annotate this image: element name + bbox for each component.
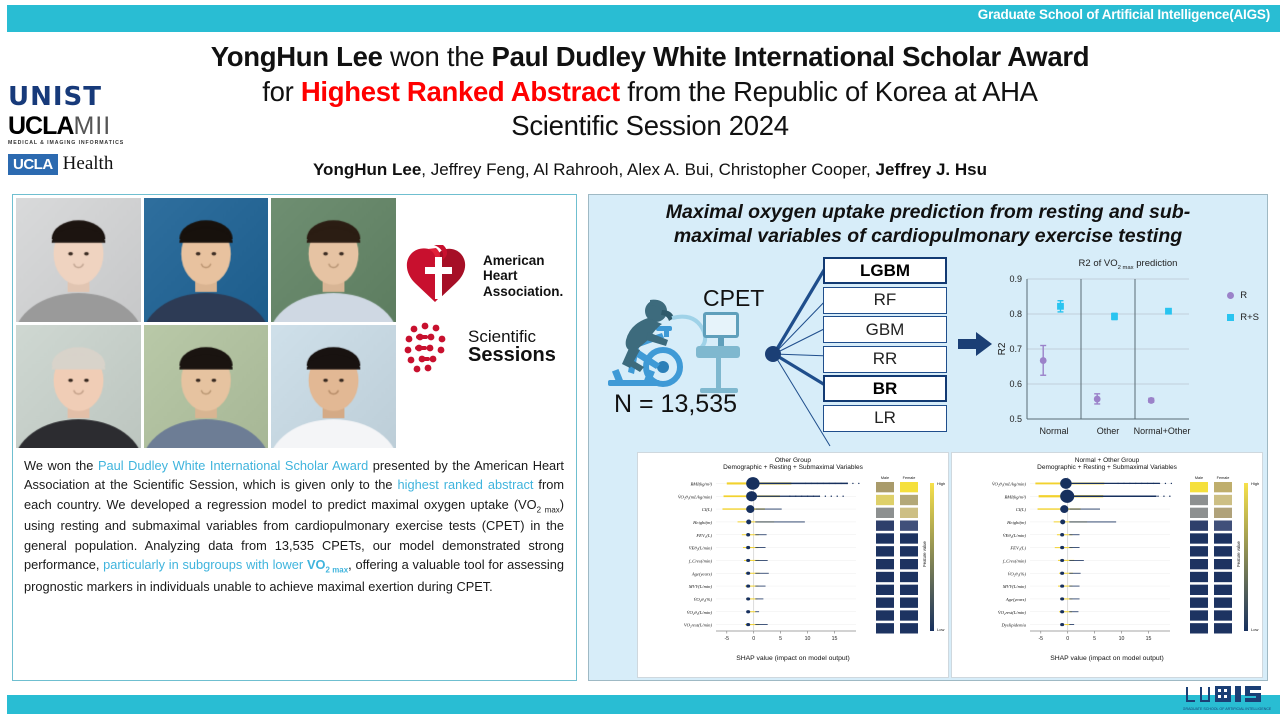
model-item-lgbm[interactable]: LGBM (823, 257, 947, 284)
svg-text:High: High (1251, 481, 1259, 486)
ucla-mii-mii: MII (73, 112, 111, 140)
shap-right-subtitle: Demographic + Resting + Submaximal Varia… (952, 464, 1262, 471)
svg-text:Age(years): Age(years) (691, 571, 713, 576)
aha-line-1: American (483, 253, 563, 268)
shap-left-subtitle: Demographic + Resting + Submaximal Varia… (638, 464, 948, 471)
aha-wordmark: American Heart Association. (483, 253, 563, 298)
ucla-mii-ucla: UCLA (8, 112, 73, 140)
svg-text:-5: -5 (1038, 636, 1043, 642)
abstract-rank-highlight: highest ranked abstract (398, 477, 534, 492)
r2-title-sub: 2 max (1118, 265, 1134, 271)
aha-line-2: Heart (483, 268, 563, 283)
svg-text:V̇O₂rest(L/min): V̇O₂rest(L/min) (998, 610, 1027, 615)
headshot-4 (16, 325, 141, 449)
svg-text:Low: Low (1251, 627, 1258, 632)
aha-heart-torch-icon (404, 245, 476, 307)
svg-text:0: 0 (752, 636, 755, 642)
title-award-name: Paul Dudley White International Scholar … (492, 41, 1090, 72)
model-item-gbm[interactable]: GBM (823, 316, 947, 343)
headshot-2 (144, 198, 269, 322)
svg-text:0.8: 0.8 (1009, 309, 1022, 319)
svg-text:GRADUATE SCHOOL OF ARTIFICIAL: GRADUATE SCHOOL OF ARTIFICIAL INTELLIGEN… (1183, 707, 1271, 711)
legend-marker-r (1227, 292, 1234, 299)
unist-aigs-logo: GRADUATE SCHOOL OF ARTIFICIAL INTELLIGEN… (1183, 681, 1271, 713)
svg-text:BMI(kg/m²): BMI(kg/m²) (1004, 494, 1026, 499)
page-title: YongHun Lee won the Paul Dudley White In… (120, 40, 1180, 144)
svg-text:0: 0 (1066, 636, 1069, 642)
legend-item-rs: R+S (1227, 312, 1259, 323)
legend-label-rs: R+S (1240, 312, 1259, 323)
svg-text:V̇O₂θ₁(mL/kg/min): V̇O₂θ₁(mL/kg/min) (992, 481, 1027, 486)
svg-text:0.5: 0.5 (1009, 414, 1022, 424)
abstract-subgroup-highlight: particularly in subgroups with lower (103, 557, 307, 572)
svg-text:R2: R2 (997, 342, 1008, 355)
legend-label-r: R (1240, 290, 1247, 301)
r2-chart-plot: 0.50.60.70.80.9R2NormalOtherNormal+Other (993, 271, 1198, 449)
svg-text:-5: -5 (724, 636, 729, 642)
title-country: from the Republic of Korea at AHA (620, 76, 1038, 107)
shap-right-canvas: -5051015V̇O₂θ₁(mL/kg/min)BMI(kg/m²)CI(L)… (952, 471, 1262, 657)
svg-text:V̇O₂θ₁(%): V̇O₂θ₁(%) (694, 597, 713, 602)
r2-chart: R2 of VO2 max prediction 0.50.60.70.80.9… (993, 258, 1263, 454)
cpet-cyclist-icon (600, 288, 770, 408)
institution-logos: UNIST UCLAMII MEDICAL & IMAGING INFORMAT… (8, 84, 138, 175)
title-line-3: Scientific Session 2024 (120, 109, 1180, 144)
svg-text:5: 5 (1093, 636, 1096, 642)
svg-text:V̇Eθ₂(L/min): V̇Eθ₂(L/min) (1003, 533, 1027, 538)
model-list: LGBM RF GBM RR BR LR (823, 257, 947, 434)
scientific-sessions-line-1: Scientific (468, 328, 556, 345)
unist-logo: UNIST (8, 84, 138, 110)
author-first: YongHun Lee (313, 160, 421, 179)
title-for: for (262, 76, 301, 107)
headshot-5 (144, 325, 269, 449)
svg-text:V̇O₂θ₁(%): V̇O₂θ₁(%) (1008, 571, 1027, 576)
headshot-6 (271, 325, 396, 449)
american-heart-association-logo: American Heart Association. Scientific S… (404, 245, 576, 395)
svg-text:0.7: 0.7 (1009, 344, 1022, 354)
svg-text:High: High (937, 481, 945, 486)
abstract-award-highlight: Paul Dudley White International Scholar … (98, 458, 368, 473)
svg-text:10: 10 (805, 636, 811, 642)
svg-text:Female: Female (1217, 476, 1230, 480)
svg-text:0.9: 0.9 (1009, 274, 1022, 284)
svg-text:5: 5 (779, 636, 782, 642)
svg-text:VO₂rest(L/min): VO₂rest(L/min) (684, 623, 713, 628)
svg-text:Female: Female (903, 476, 916, 480)
svg-text:MVV(L/min): MVV(L/min) (688, 584, 713, 589)
shap-right-title: Normal + Other Group (952, 457, 1262, 464)
title-line-2: for Highest Ranked Abstract from the Rep… (120, 75, 1180, 110)
shap-plot-other-group: Other Group Demographic + Resting + Subm… (637, 452, 949, 678)
study-title-line-1: Maximal oxygen uptake prediction from re… (596, 200, 1260, 224)
study-title: Maximal oxygen uptake prediction from re… (596, 200, 1260, 249)
model-item-rr[interactable]: RR (823, 346, 947, 373)
svg-text:Feature value: Feature value (922, 541, 927, 567)
title-highlight-abstract: Highest Ranked Abstract (301, 76, 620, 107)
aha-line-3: Association. (483, 284, 563, 299)
abstract-seg-1: We won the (24, 458, 98, 473)
svg-text:15: 15 (832, 636, 838, 642)
svg-text:V̇O₂θ₁(mL/kg/min): V̇O₂θ₁(mL/kg/min) (678, 494, 713, 499)
scientific-sessions-globe-icon (404, 315, 462, 377)
svg-text:Normal+Other: Normal+Other (1134, 426, 1191, 436)
svg-text:Feature value: Feature value (1236, 541, 1241, 567)
svg-text:CI(L): CI(L) (1016, 507, 1027, 512)
ucla-health-word: Health (63, 153, 114, 175)
svg-text:Age(years): Age(years) (1005, 597, 1027, 602)
r2-chart-legend: R R+S (1227, 290, 1259, 334)
svg-text:FEV₁(L): FEV₁(L) (695, 533, 712, 538)
ucla-mii-logo: UCLAMII (8, 114, 138, 139)
svg-text:Male: Male (881, 476, 889, 480)
svg-text:BMI(kg/m²): BMI(kg/m²) (690, 481, 712, 486)
arrow-right-icon (958, 330, 992, 358)
title-awardee-name: YongHun Lee (211, 41, 383, 72)
legend-marker-rs (1227, 314, 1234, 321)
svg-text:V̇O₂θ₁(L/min): V̇O₂θ₁(L/min) (687, 610, 713, 615)
shap-left-title: Other Group (638, 457, 948, 464)
authors-line: YongHun Lee, Jeffrey Feng, Al Rahrooh, A… (120, 160, 1180, 180)
svg-text:MVV(L/min): MVV(L/min) (1002, 584, 1027, 589)
shap-left-canvas: -5051015BMI(kg/m²)V̇O₂θ₁(mL/kg/min)CI(L)… (638, 471, 948, 657)
abstract-text: We won the Paul Dudley White Internation… (24, 456, 564, 596)
abstract-vo2-highlight: VO (307, 557, 326, 572)
headshot-grid (16, 198, 396, 448)
headshot-1 (16, 198, 141, 322)
svg-text:f_Cres(/min): f_Cres(/min) (1003, 558, 1027, 563)
shap-plot-normal-other-group: Normal + Other Group Demographic + Resti… (951, 452, 1263, 678)
r2-chart-title: R2 of VO2 max prediction (993, 258, 1263, 271)
r2-title-main: R2 of VO (1079, 258, 1118, 269)
bottom-banner-bar (7, 695, 1280, 714)
svg-text:Normal: Normal (1039, 426, 1068, 436)
abstract-sub-1: 2 max (537, 505, 560, 514)
ucla-mii-subtitle: MEDICAL & IMAGING INFORMATICS (8, 140, 138, 146)
svg-text:15: 15 (1146, 636, 1152, 642)
study-title-line-2: maximal variables of cardiopulmonary exe… (596, 224, 1260, 248)
svg-text:Low: Low (937, 627, 944, 632)
svg-text:FEV₁(L): FEV₁(L) (1009, 546, 1026, 551)
svg-text:Male: Male (1195, 476, 1203, 480)
svg-text:Dyslipidemia: Dyslipidemia (1001, 623, 1027, 628)
svg-text:f_Cres(/min): f_Cres(/min) (689, 558, 713, 563)
svg-text:Other: Other (1097, 426, 1120, 436)
ucla-health-badge: UCLA (8, 154, 58, 175)
title-connector: won the (383, 41, 492, 72)
svg-text:V̇Eθ₂(L/min): V̇Eθ₂(L/min) (689, 546, 713, 551)
title-line-1: YongHun Lee won the Paul Dudley White In… (120, 40, 1180, 75)
model-item-rf[interactable]: RF (823, 287, 947, 314)
legend-item-r: R (1227, 290, 1259, 301)
abstract-sub-2: 2 max (325, 566, 348, 575)
model-item-br[interactable]: BR (823, 375, 947, 402)
svg-text:0.6: 0.6 (1009, 379, 1022, 389)
ucla-health-logo: UCLA Health (8, 153, 138, 175)
top-banner-label: Graduate School of Artificial Intelligen… (978, 7, 1270, 22)
headshot-3 (271, 198, 396, 322)
author-middle: , Jeffrey Feng, Al Rahrooh, Alex A. Bui,… (421, 160, 875, 179)
svg-text:10: 10 (1119, 636, 1125, 642)
model-item-lr[interactable]: LR (823, 405, 947, 432)
scientific-sessions-line-2: Sessions (468, 345, 556, 365)
svg-text:Height(m): Height(m) (692, 520, 712, 525)
r2-title-tail: prediction (1134, 258, 1178, 269)
svg-text:Height(m): Height(m) (1006, 520, 1026, 525)
author-last: Jeffrey J. Hsu (876, 160, 988, 179)
svg-text:CI(L): CI(L) (702, 507, 713, 512)
